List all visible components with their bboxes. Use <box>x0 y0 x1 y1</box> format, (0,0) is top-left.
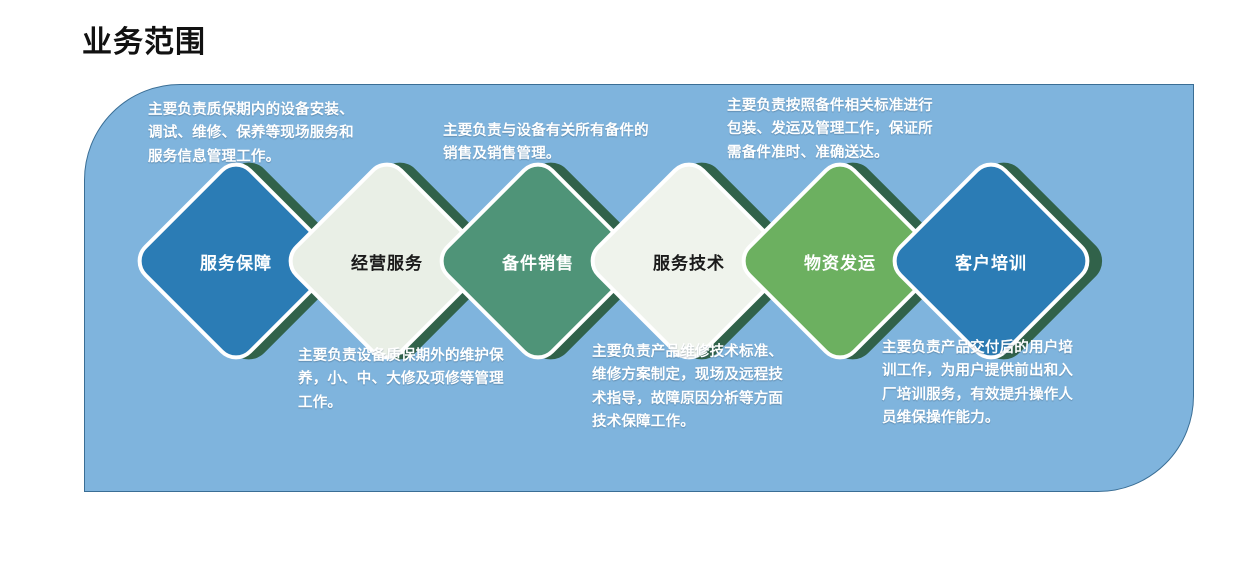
slide-canvas: 业务范围 服务保障 经营服务 备件销售 服务技术 物资发运 <box>0 0 1241 562</box>
callout-service-technology: 主要负责产品维修技术标准、维修方案制定，现场及远程技术指导，故障原因分析等方面技… <box>592 341 792 435</box>
diamond-node-customer-training[interactable]: 客户培训 <box>915 185 1067 337</box>
callout-service-guarantee: 主要负责质保期内的设备安装、调试、维修、保养等现场服务和服务信息管理工作。 <box>148 99 358 169</box>
callout-operation-service: 主要负责设备质保期外的维护保养，小、中、大修及项修等管理工作。 <box>298 345 513 415</box>
callout-material-shipping: 主要负责按照备件相关标准进行包装、发运及管理工作，保证所需备件准时、准确送达。 <box>727 95 942 165</box>
page-title: 业务范围 <box>82 26 206 59</box>
callout-parts-sales: 主要负责与设备有关所有备件的销售及销售管理。 <box>443 120 653 167</box>
callout-customer-training: 主要负责产品交付后的用户培训工作，为用户提供前出和入厂培训服务，有效提升操作人员… <box>882 337 1082 431</box>
